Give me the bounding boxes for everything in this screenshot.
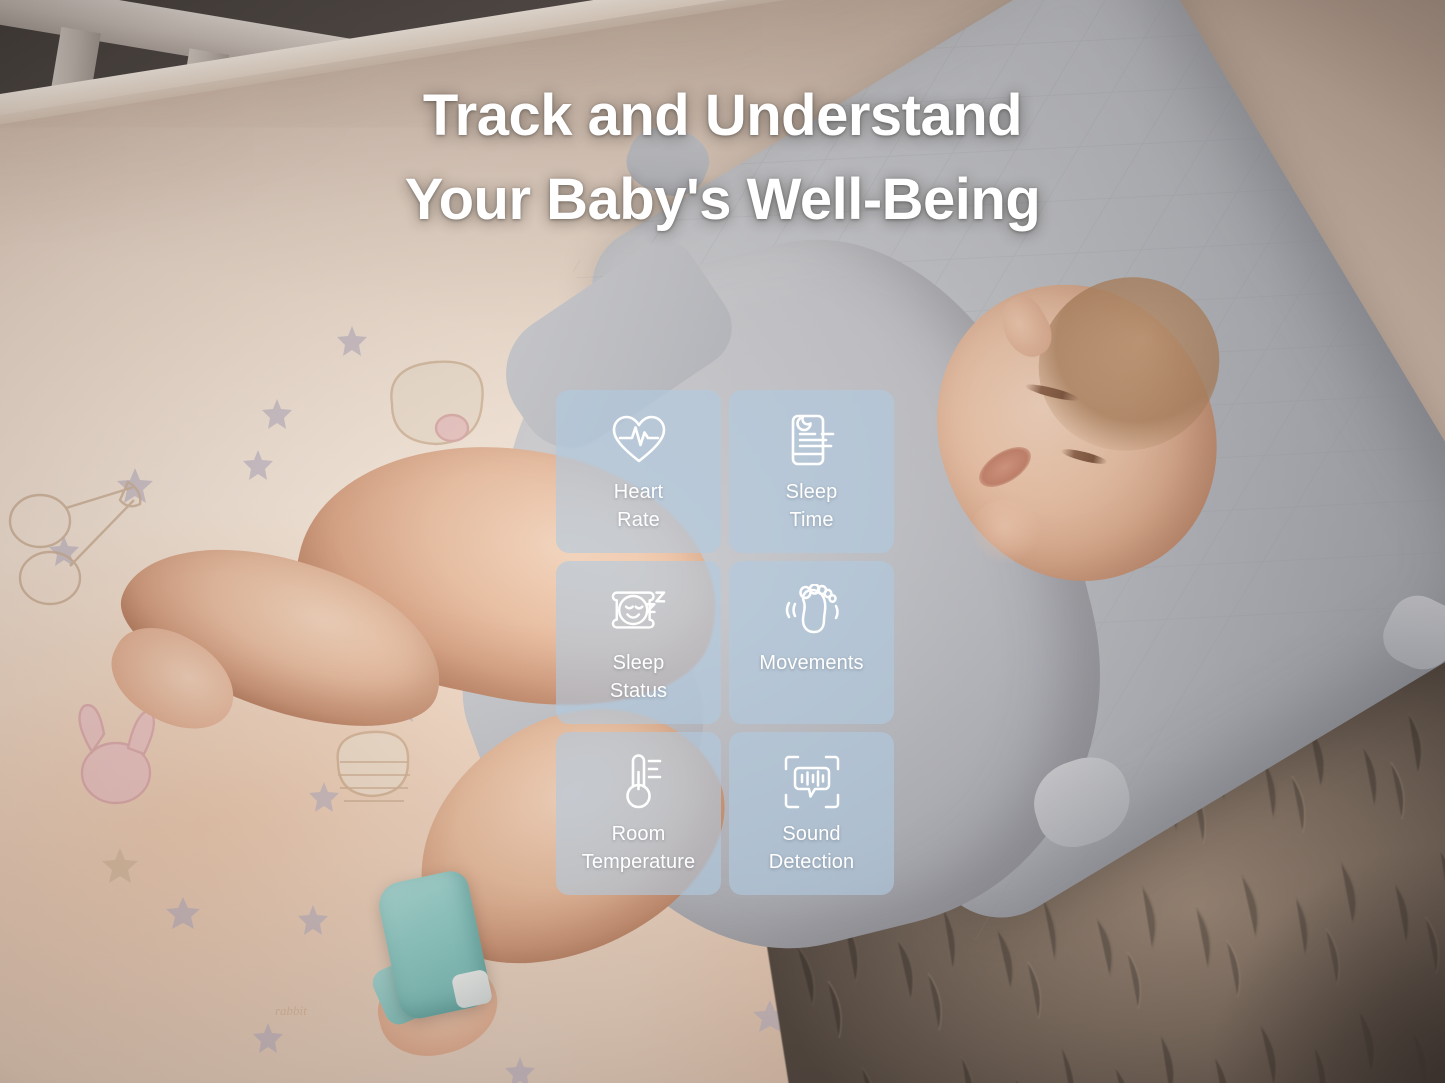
heart-pulse-icon	[610, 409, 668, 471]
feature-label: Room Temperature	[582, 820, 695, 876]
headline-line-2: Your Baby's Well-Being	[150, 158, 1295, 242]
svg-text:rabbit: rabbit	[275, 1003, 307, 1018]
feature-tile-heart-rate[interactable]: Heart Rate	[556, 390, 721, 553]
footprint-motion-icon	[783, 580, 841, 642]
feature-label: Sleep Time	[786, 478, 838, 534]
feature-label: Sound Detection	[769, 820, 854, 876]
sound-waveform-icon	[783, 751, 841, 813]
rug-shadow	[1205, 843, 1445, 1083]
feature-tile-sleep-status[interactable]: Sleep Status	[556, 561, 721, 724]
sleep-report-icon	[783, 409, 841, 471]
feature-tile-sleep-time[interactable]: Sleep Time	[729, 390, 894, 553]
headline-line-1: Track and Understand	[150, 74, 1295, 158]
feature-label: Heart Rate	[614, 478, 663, 534]
baby-chin	[970, 500, 1040, 564]
feature-label: Sleep Status	[610, 649, 667, 705]
feature-label: Movements	[759, 649, 863, 677]
thermometer-icon	[610, 751, 668, 813]
feature-tile-movements[interactable]: Movements	[729, 561, 894, 724]
feature-grid: Heart Rate Sleep Time	[556, 390, 894, 895]
sleeping-face-icon	[610, 580, 668, 642]
feature-tile-room-temperature[interactable]: Room Temperature	[556, 732, 721, 895]
page-title: Track and Understand Your Baby's Well-Be…	[0, 74, 1445, 242]
promo-banner: rabbit	[0, 0, 1445, 1083]
feature-tile-sound-detection[interactable]: Sound Detection	[729, 732, 894, 895]
